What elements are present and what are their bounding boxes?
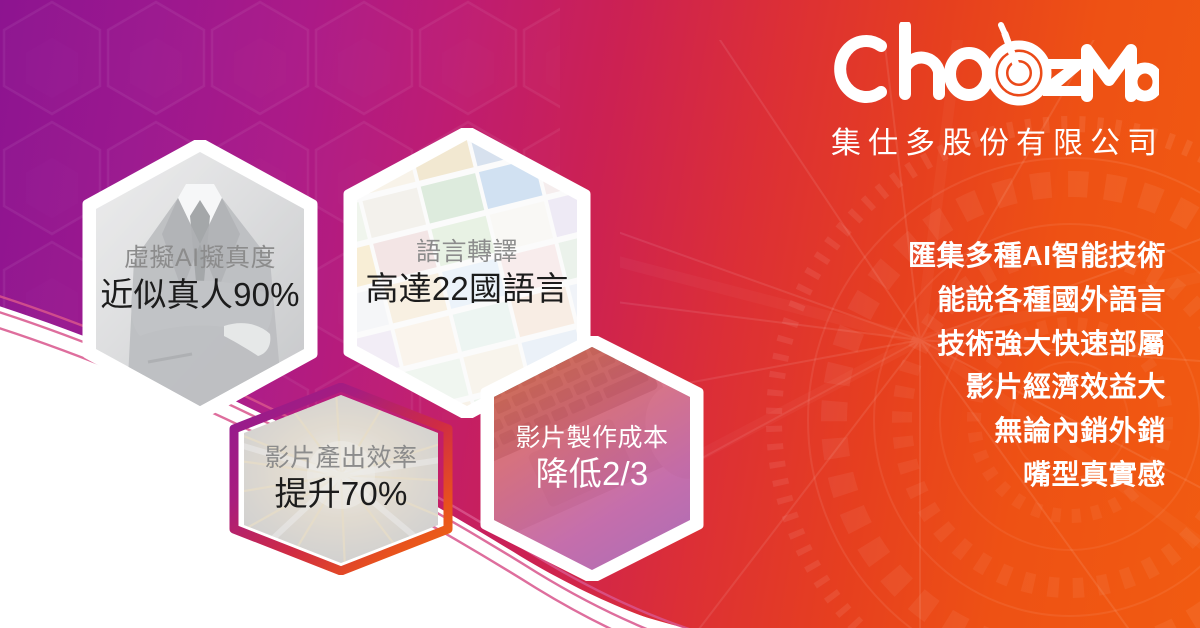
hexagon-label-lang: 語言轉譯 <box>339 238 595 267</box>
hexagon-text-speed: 影片產出效率 提升70% <box>216 444 466 513</box>
hexagon-value-lang: 高達22國語言 <box>339 270 595 308</box>
choozmo-wordmark-logo <box>829 22 1159 108</box>
brand-logo-block[interactable]: 集仕多股份有限公司 <box>824 22 1164 162</box>
hexagon-label-cost: 影片製作成本 <box>479 424 705 453</box>
hexagon-badge-video-production-cost[interactable]: 影片製作成本 降低2/3 <box>473 336 711 581</box>
feature-item-5: 嘴型真實感 <box>836 453 1166 497</box>
hexagon-label-ai: 虛擬AI擬真度 <box>80 244 320 273</box>
hexagon-label-speed: 影片產出效率 <box>222 444 460 473</box>
company-name-chinese: 集仕多股份有限公司 <box>824 118 1164 162</box>
hexagon-badge-virtual-ai-realism[interactable]: 虛擬AI擬真度 近似真人90% <box>74 140 326 418</box>
hexagon-text-ai: 虛擬AI擬真度 近似真人90% <box>74 244 326 314</box>
feature-item-2: 技術強大快速部屬 <box>836 322 1166 366</box>
feature-item-0: 匯集多種AI智能技術 <box>836 234 1166 278</box>
feature-item-1: 能說各種國外語言 <box>836 278 1166 322</box>
bullseye-target-icon <box>991 25 1047 101</box>
feature-list: 匯集多種AI智能技術 能說各種國外語言 技術強大快速部屬 影片經濟效益大 無論內… <box>836 234 1166 497</box>
hexagon-badge-video-output-efficiency[interactable]: 影片產出效率 提升70% <box>216 383 466 575</box>
feature-item-4: 無論內銷外銷 <box>836 409 1166 453</box>
hexagon-value-cost: 降低2/3 <box>479 455 705 493</box>
hexagon-text-lang: 語言轉譯 高達22國語言 <box>333 238 601 308</box>
hexagon-text-cost: 影片製作成本 降低2/3 <box>473 424 711 493</box>
feature-item-3: 影片經濟效益大 <box>836 365 1166 409</box>
hexagon-value-ai: 近似真人90% <box>80 276 320 314</box>
banner-stage: 虛擬AI擬真度 近似真人90% <box>0 0 1200 628</box>
hexagon-value-speed: 提升70% <box>222 475 460 513</box>
